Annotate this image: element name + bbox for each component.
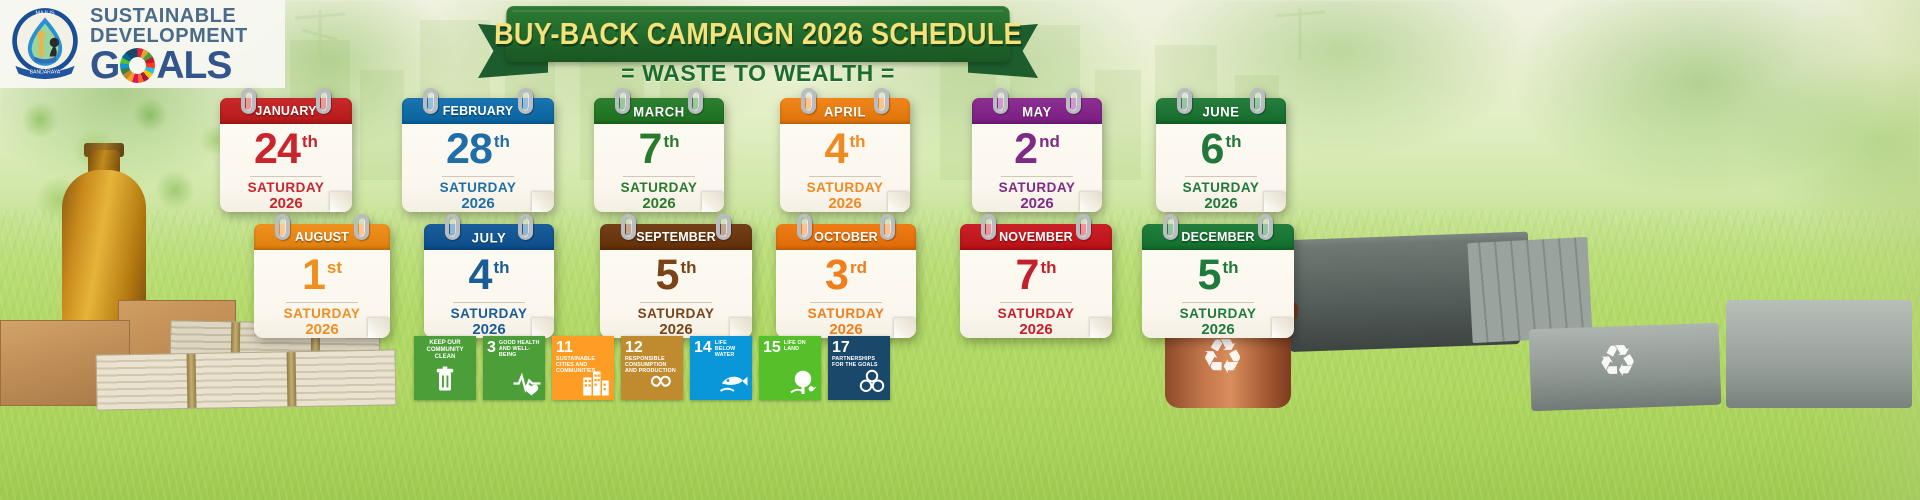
calendar-divider (810, 302, 882, 303)
calendar-weekday: SATURDAY (1180, 306, 1257, 322)
calendar-ring-icon (1066, 88, 1081, 114)
calendar-day-number: 28 (446, 128, 492, 171)
sdg-badge-17[interactable]: 17PARTNERSHIPS FOR THE GOALS (828, 336, 890, 400)
sdg-badge-15[interactable]: 15LIFE ON LAND (759, 336, 821, 400)
calendar-year: 2026 (1201, 322, 1234, 339)
logo-panel: MAJLIS BANDARAYA SUSTAINABLE DEVELOPMENT… (0, 0, 285, 88)
calendar-day-suffix: th (1220, 254, 1238, 276)
sdg-badge-3[interactable]: 3GOOD HEALTH AND WELL-BEING (483, 336, 545, 400)
calendar-divider (453, 302, 525, 303)
calendar-divider (1000, 302, 1072, 303)
calendar-card-june[interactable]: JUNE6thSATURDAY2026 (1156, 98, 1286, 212)
calendar-weekday: SATURDAY (1183, 180, 1260, 196)
calendar-divider (640, 302, 712, 303)
calendar-day-suffix: th (847, 128, 865, 150)
calendar-body: 1stSATURDAY2026 (254, 248, 390, 338)
sdg-badge-title: Keep Our Community Clean (418, 340, 472, 362)
calendar-month-label: FEBRUARY (443, 104, 514, 119)
calendar-weekday: SATURDAY (284, 306, 361, 322)
calendar-year: 2026 (1019, 322, 1052, 339)
sdg-badge-number: 3 (487, 340, 496, 356)
calendar-day: 7th (1016, 254, 1057, 297)
sdg-badge-number: 14 (694, 340, 712, 356)
calendar-weekday: SATURDAY (621, 180, 698, 196)
calendar-body: 3rdSATURDAY2026 (776, 248, 916, 338)
calendar-divider (286, 302, 358, 303)
calendar-year: 2026 (642, 196, 675, 213)
calendar-divider (250, 176, 322, 177)
calendar-card-september[interactable]: SEPTEMBER5thSATURDAY2026 (600, 224, 752, 338)
calendar-day: 24th (254, 128, 318, 171)
recycle-symbol-icon: ♻ (1201, 334, 1244, 382)
calendar-weekday: SATURDAY (999, 180, 1076, 196)
calendar-ring-icon (1163, 214, 1178, 240)
calendar-day-number: 3 (825, 254, 848, 297)
calendar-day-suffix: th (492, 128, 510, 150)
calendar-ring-icon (445, 214, 460, 240)
sdg-badge-number: 12 (625, 340, 643, 356)
calendar-body: 7thSATURDAY2026 (960, 248, 1112, 338)
calendar-weekday: SATURDAY (808, 306, 885, 322)
calendar-day-suffix: st (325, 254, 342, 276)
ribbon-body: BUY-BACK CAMPAIGN 2026 SCHEDULE (505, 6, 1010, 62)
calendar-weekday: SATURDAY (807, 180, 884, 196)
tree-bird-icon (788, 367, 818, 397)
sdg-wordmark: SUSTAINABLE DEVELOPMENT G ALS (90, 4, 248, 85)
buy-back-campaign-poster: ♻ ♻ MAJLIS BANDARAYA SUSTA (0, 0, 1920, 500)
calendar-day-number: 24 (254, 128, 300, 171)
calendar-day: 4th (825, 128, 866, 171)
calendar-year: 2026 (1020, 196, 1053, 213)
calendar-month-label: JUNE (1202, 103, 1239, 119)
calendar-ring-icon (1258, 214, 1273, 240)
calendar-card-november[interactable]: NOVEMBER7thSATURDAY2026 (960, 224, 1112, 338)
calendar-month-label: MAY (1022, 103, 1052, 119)
calendar-divider (442, 176, 514, 177)
calendar-day-number: 7 (639, 128, 662, 171)
calendar-body: 5thSATURDAY2026 (600, 248, 752, 338)
calendar-day-suffix: th (300, 128, 318, 150)
calendar-day-number: 4 (825, 128, 848, 171)
calendar-body: 6thSATURDAY2026 (1156, 122, 1286, 212)
calendar-body: 4thSATURDAY2026 (424, 248, 554, 338)
calendar-body: 28thSATURDAY2026 (402, 122, 554, 212)
calendar-card-august[interactable]: AUGUST1stSATURDAY2026 (254, 224, 390, 338)
calendar-ring-icon (1076, 214, 1091, 240)
calendar-divider (1182, 302, 1254, 303)
calendar-ring-icon (1250, 88, 1265, 114)
calendar-day-suffix: th (678, 254, 696, 276)
calendar-day-number: 6 (1201, 128, 1224, 171)
calendar-ring-icon (993, 88, 1008, 114)
calendar-day-suffix: rd (848, 254, 867, 276)
calendar-ring-icon (518, 88, 533, 114)
calendar-day-suffix: th (1223, 128, 1241, 150)
calendar-weekday: SATURDAY (638, 306, 715, 322)
calendar-month-label: JANUARY (255, 104, 316, 119)
partnership-circles-icon (857, 367, 887, 397)
calendar-ring-icon (621, 214, 636, 240)
calendar-day: 5th (656, 254, 697, 297)
calendar-body: 2ndSATURDAY2026 (972, 122, 1102, 212)
calendar-year: 2026 (1204, 196, 1237, 213)
calendar-day: 2nd (1014, 128, 1060, 171)
calendar-card-march[interactable]: MARCH7thSATURDAY2026 (594, 98, 724, 212)
calendar-divider (1185, 176, 1257, 177)
calendar-day-suffix: th (1038, 254, 1056, 276)
background-right-fade (1800, 0, 1920, 500)
sdg-badge-12[interactable]: 12RESPONSIBLE CONSUMPTION AND PRODUCTION (621, 336, 683, 400)
calendar-ring-icon (354, 214, 369, 240)
calendar-ring-icon (801, 88, 816, 114)
paper-strap (287, 352, 297, 406)
calendar-weekday: SATURDAY (998, 306, 1075, 322)
campaign-subtitle: = WASTE TO WEALTH = (478, 60, 1038, 87)
calendar-day-number: 2 (1014, 128, 1037, 171)
calendar-month-label: AUGUST (295, 230, 349, 245)
calendar-day: 3rd (825, 254, 867, 297)
calendar-day: 5th (1198, 254, 1239, 297)
calendar-day-suffix: th (661, 128, 679, 150)
calendar-card-october[interactable]: OCTOBER3rdSATURDAY2026 (776, 224, 916, 338)
calendar-month-label: SEPTEMBER (636, 230, 716, 245)
calendar-month-label: MARCH (633, 103, 684, 119)
calendar-year: 2026 (305, 322, 338, 339)
calendar-weekday: SATURDAY (248, 180, 325, 196)
calendar-day-number: 1 (302, 254, 325, 297)
calendar-day: 6th (1201, 128, 1242, 171)
calendar-month-label: OCTOBER (814, 230, 878, 245)
calendar-month-label: NOVEMBER (999, 230, 1073, 245)
calendar-day: 28th (446, 128, 510, 171)
sdg-badge-community-clean[interactable]: Keep Our Community Clean (414, 336, 476, 400)
sdg-badge-number: 15 (763, 340, 781, 356)
sdg-badge-number: 17 (832, 340, 850, 356)
calendar-body: 24thSATURDAY2026 (220, 122, 352, 212)
sdg-line-3: G ALS (90, 46, 248, 85)
calendar-month-header: JANUARY (220, 98, 352, 124)
calendar-divider (1001, 176, 1073, 177)
sdg-badge-number: 11 (556, 340, 573, 356)
calendar-day: 4th (469, 254, 510, 297)
calendar-day-number: 5 (656, 254, 679, 297)
calendar-body: 4thSATURDAY2026 (780, 122, 910, 212)
calendar-ring-icon (518, 214, 533, 240)
sdg-color-wheel-icon (120, 48, 155, 83)
recycle-symbol-icon: ♻ (1597, 340, 1638, 385)
sdg-badge-11[interactable]: 11SUSTAINABLE CITIES AND COMMUNITIES (552, 336, 614, 400)
calendar-day-suffix: th (491, 254, 509, 276)
calendar-card-july[interactable]: JULY4thSATURDAY2026 (424, 224, 554, 338)
calendar-month-header: MAY (972, 98, 1102, 124)
sdg-badge-14[interactable]: 14LIFE BELOW WATER (690, 336, 752, 400)
infinity-icon (650, 367, 680, 397)
trash-bin-icon (430, 365, 460, 395)
calendar-month-label: DECEMBER (1181, 230, 1254, 245)
calendar-divider (809, 176, 881, 177)
city-council-crest-icon: MAJLIS BANDARAYA (6, 5, 84, 83)
calendar-card-april[interactable]: APRIL4thSATURDAY2026 (780, 98, 910, 212)
calendar-ring-icon (797, 214, 812, 240)
sdg-line-1: SUSTAINABLE (90, 6, 248, 26)
campaign-banner: BUY-BACK CAMPAIGN 2026 SCHEDULE = WASTE … (478, 2, 1038, 94)
calendar-ring-icon (615, 88, 630, 114)
svg-text:BANDARAYA: BANDARAYA (30, 70, 61, 76)
campaign-title: BUY-BACK CAMPAIGN 2026 SCHEDULE (494, 17, 1023, 52)
calendar-day-number: 5 (1198, 254, 1221, 297)
calendar-ring-icon (275, 214, 290, 240)
calendar-ring-icon (1177, 88, 1192, 114)
fish-icon (719, 367, 749, 397)
calendar-ring-icon (880, 214, 895, 240)
svg-text:MAJLIS: MAJLIS (35, 10, 54, 16)
sdg-line-2: DEVELOPMENT (90, 26, 248, 46)
calendar-ring-icon (716, 214, 731, 240)
calendar-day-number: 7 (1016, 254, 1039, 297)
calendar-divider (623, 176, 695, 177)
calendar-year: 2026 (269, 196, 302, 213)
calendar-card-january[interactable]: JANUARY24thSATURDAY2026 (220, 98, 352, 212)
sdg-goals-als: ALS (156, 46, 231, 85)
calendar-ring-icon (316, 88, 331, 114)
grey-recycle-box-right (1726, 300, 1912, 408)
calendar-month-header: JUNE (1156, 98, 1286, 124)
sdg-badge-row: Keep Our Community Clean3GOOD HEALTH AND… (414, 336, 890, 400)
calendar-day: 1st (302, 254, 342, 297)
calendar-year: 2026 (461, 196, 494, 213)
calendar-year: 2026 (828, 196, 861, 213)
sdg-goals-g: G (90, 46, 119, 85)
newspaper-stack-lower (96, 349, 397, 410)
calendar-weekday: SATURDAY (440, 180, 517, 196)
calendar-month-header: APRIL (780, 98, 910, 124)
calendar-card-december[interactable]: DECEMBER5thSATURDAY2026 (1142, 224, 1294, 338)
heartbeat-icon (512, 367, 542, 397)
calendar-ring-icon (241, 88, 256, 114)
city-buildings-icon (581, 367, 611, 397)
paper-strap (187, 354, 197, 408)
calendar-month-label: JULY (472, 229, 506, 245)
calendar-body: 5thSATURDAY2026 (1142, 248, 1294, 338)
calendar-ring-icon (423, 88, 438, 114)
calendar-month-header: JULY (424, 224, 554, 250)
calendar-day-suffix: nd (1037, 128, 1060, 150)
calendar-weekday: SATURDAY (451, 306, 528, 322)
calendar-card-february[interactable]: FEBRUARY28thSATURDAY2026 (402, 98, 554, 212)
calendar-body: 7thSATURDAY2026 (594, 122, 724, 212)
grey-recycle-box-left: ♻ (1529, 323, 1722, 412)
calendar-month-header: MARCH (594, 98, 724, 124)
calendar-ring-icon (981, 214, 996, 240)
calendar-ring-icon (688, 88, 703, 114)
calendar-month-label: APRIL (824, 103, 866, 119)
calendar-day-number: 4 (469, 254, 492, 297)
calendar-day: 7th (639, 128, 680, 171)
calendar-card-may[interactable]: MAY2ndSATURDAY2026 (972, 98, 1102, 212)
calendar-ring-icon (874, 88, 889, 114)
